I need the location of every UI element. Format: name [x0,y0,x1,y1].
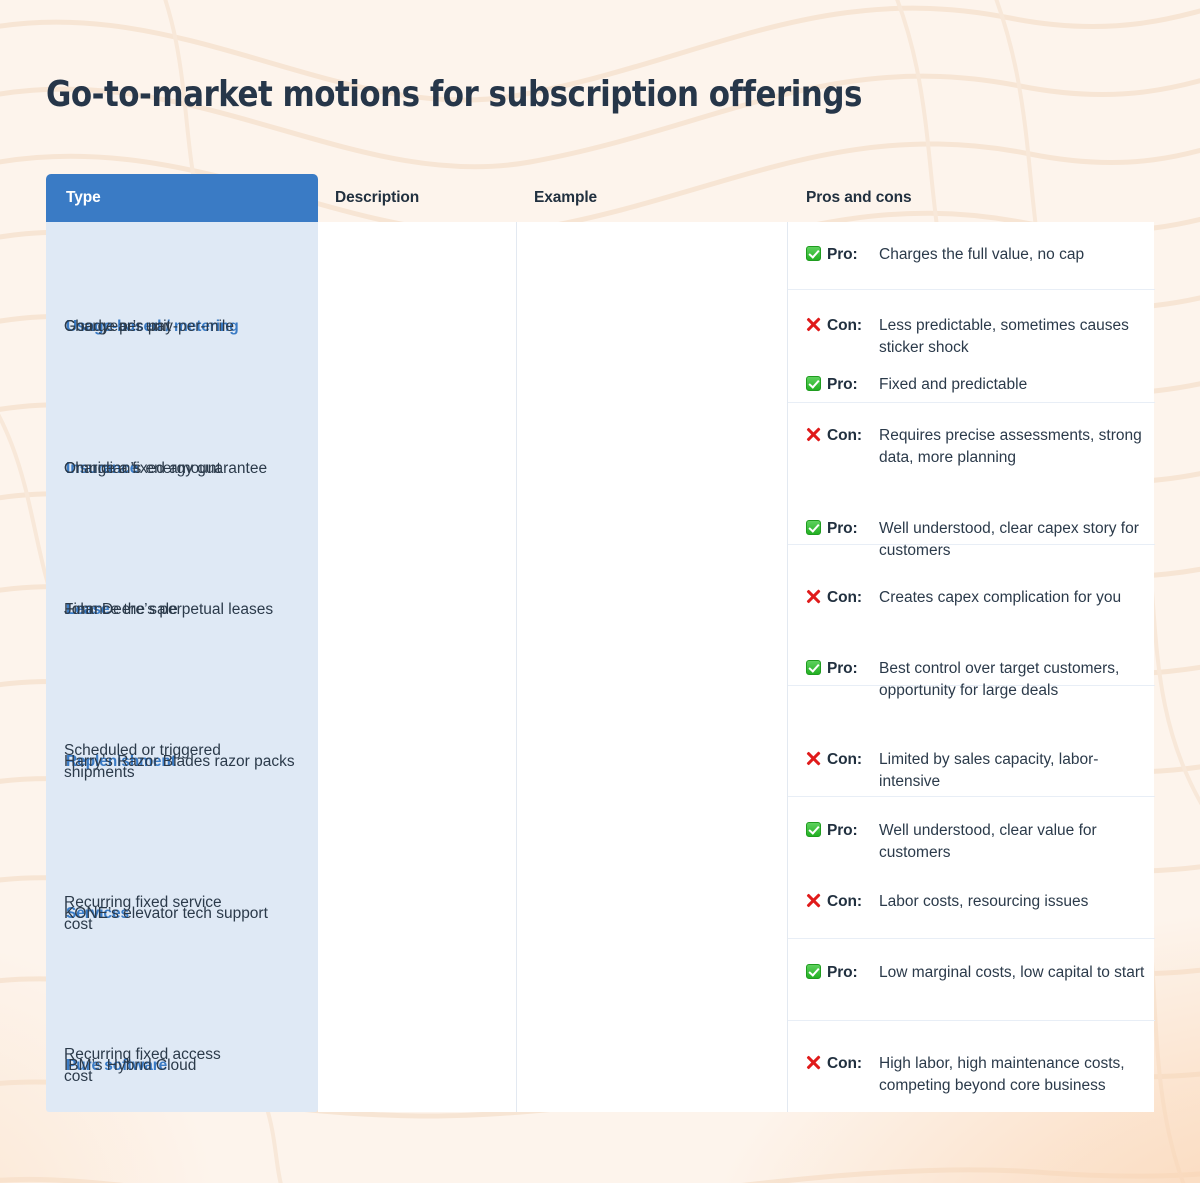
infographic-page: Go-to-market motions for subscription of… [0,0,1200,1183]
pros-cons-divider [788,796,1155,797]
pros-cons-label: Con: [827,587,879,609]
pros-cons-divider [788,289,1155,290]
cell-example-text: KONE’s elevator tech support [64,903,268,925]
cell-example: IBM’s Hybrid Cloud [64,1052,309,1080]
pros-cons-item: Con: Creates capex complication for you [806,587,1146,609]
pros-cons-text: Fixed and predictable [879,374,1146,396]
check-icon [806,820,827,842]
column-body-type [46,222,318,1112]
pros-cons-divider [788,938,1155,939]
cell-example: John Deere’s perpetual leases [64,585,309,635]
pros-cons-label: Con: [827,749,879,771]
pros-cons-text: Less predictable, sometimes causes stick… [879,315,1146,359]
pros-cons-text: Limited by sales capacity, labor-intensi… [879,749,1146,793]
column-body-example [516,222,787,1112]
pros-cons-text: High labor, high maintenance costs, comp… [879,1053,1146,1097]
pros-cons-divider [788,402,1155,403]
pros-cons-item: Con: Limited by sales capacity, labor-in… [806,749,1146,793]
check-icon [806,244,827,266]
pros-cons-item: Pro: Well understood, clear capex story … [806,518,1146,562]
pros-cons-label: Con: [827,425,879,447]
cell-example-text: IBM’s Hybrid Cloud [64,1055,196,1077]
pros-cons-item: Pro: Best control over target customers,… [806,658,1146,702]
pros-cons-text: Charges the full value, no cap [879,244,1146,266]
check-icon [806,658,827,680]
pros-cons-item: Pro: Charges the full value, no cap [806,244,1146,266]
cross-icon [806,891,827,913]
column-body-description [318,222,516,1112]
pros-cons-text: Low marginal costs, low capital to start [879,962,1146,984]
cell-example-text: Omnidian’s energy guarantee [64,458,267,480]
check-icon [806,374,827,396]
check-icon [806,518,827,540]
pros-cons-label: Pro: [827,374,879,396]
cross-icon [806,425,827,447]
pros-cons-item: Con: High labor, high maintenance costs,… [806,1053,1146,1097]
cross-icon [806,315,827,337]
cross-icon [806,1053,827,1075]
pros-cons-label: Pro: [827,962,879,984]
column-body-pros-and-cons: Pro: Charges the full value, no cap Con:… [787,222,1154,1112]
cell-example: Harry’s Razor Blades razor packs [64,737,309,787]
pros-cons-item: Con: Less predictable, sometimes causes … [806,315,1146,359]
cell-example-text: John Deere’s perpetual leases [64,599,273,621]
pros-cons-label: Con: [827,1053,879,1075]
pros-cons-label: Pro: [827,820,879,842]
pros-cons-divider [788,1020,1155,1021]
column-header-description: Description [335,174,419,222]
pros-cons-text: Labor costs, resourcing issues [879,891,1146,913]
cross-icon [806,749,827,771]
cell-example-text: Goodyear’s pay-per-mile [64,316,234,338]
cell-example: KONE’s elevator tech support [64,889,309,939]
cell-example: Goodyear’s pay-per-mile [64,313,309,341]
pros-cons-text: Requires precise assessments, strong dat… [879,425,1146,469]
page-title: Go-to-market motions for subscription of… [46,74,862,115]
pros-cons-item: Pro: Low marginal costs, low capital to … [806,962,1146,984]
pros-cons-label: Pro: [827,658,879,680]
column-header-example: Example [534,174,597,222]
pros-cons-text: Best control over target customers, oppo… [879,658,1146,702]
pros-cons-text: Well understood, clear capex story for c… [879,518,1146,562]
pros-cons-text: Well understood, clear value for custome… [879,820,1146,864]
pros-cons-item: Con: Labor costs, resourcing issues [806,891,1146,913]
cell-example: Omnidian’s energy guarantee [64,444,309,494]
pros-cons-item: Pro: Well understood, clear value for cu… [806,820,1146,864]
pros-cons-item: Pro: Fixed and predictable [806,374,1146,396]
check-icon [806,962,827,984]
table-body: Usage-based / metering Insurance Lease R… [46,222,1154,1112]
table-header-row: Type Description Example Pros and cons [46,174,1154,222]
column-header-type: Type [46,174,318,222]
pros-cons-item: Con: Requires precise assessments, stron… [806,425,1146,469]
cell-example-text: Harry’s Razor Blades razor packs [64,751,295,773]
comparison-table: Type Description Example Pros and cons U… [46,174,1154,1112]
column-header-pros-and-cons: Pros and cons [806,174,912,222]
pros-cons-label: Pro: [827,518,879,540]
pros-cons-label: Con: [827,891,879,913]
pros-cons-label: Pro: [827,244,879,266]
pros-cons-label: Con: [827,315,879,337]
pros-cons-text: Creates capex complication for you [879,587,1146,609]
cross-icon [806,587,827,609]
